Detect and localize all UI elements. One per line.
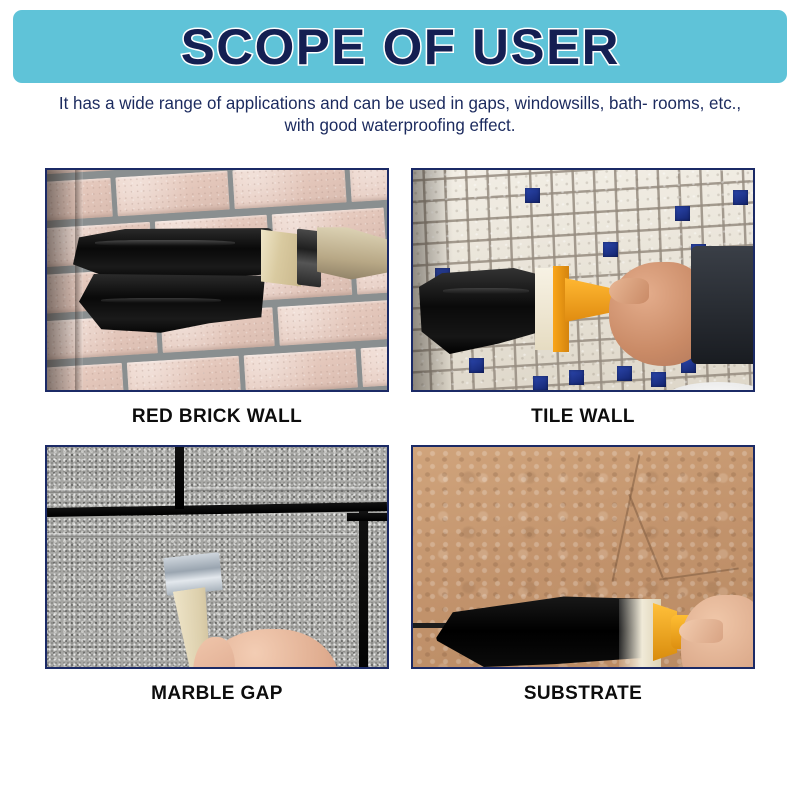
scene-tile (413, 170, 753, 390)
finger (679, 619, 723, 643)
accent-tile (533, 376, 548, 390)
gap-horizontal-bottom (347, 513, 387, 521)
gap-vertical-right (359, 511, 368, 667)
panel-substrate: SUBSTRATE (411, 445, 755, 705)
panel-tile-wall: TILE WALL (411, 168, 755, 428)
photo-red-brick-wall (45, 168, 389, 392)
sealant-highlight-1 (95, 240, 235, 246)
scene-brick (47, 170, 387, 390)
panel-marble-gap: MARBLE GAP (45, 445, 389, 705)
accent-tile (651, 372, 666, 387)
page-title: SCOPE OF USER (180, 22, 619, 72)
header-banner: SCOPE OF USER (13, 10, 787, 83)
accent-tile (603, 242, 618, 257)
accent-tile (733, 190, 748, 205)
accent-tile (675, 206, 690, 221)
caption-substrate: SUBSTRATE (411, 683, 755, 705)
sealant-stroke-upper (73, 228, 273, 280)
scene-substrate (413, 447, 753, 667)
photo-tile-wall (411, 168, 755, 392)
subtitle-line-1: It has a wide range of applications and … (59, 93, 648, 113)
panel-red-brick-wall: RED BRICK WALL (45, 168, 389, 428)
caption-tile-wall: TILE WALL (411, 406, 755, 428)
sealant-highlight-tile (443, 288, 529, 294)
paint-brush-bristles (261, 230, 301, 287)
photo-marble-gap (45, 445, 389, 669)
jacket-sleeve (691, 246, 753, 364)
photo-substrate (411, 445, 755, 669)
slab-groove-top (47, 489, 175, 493)
subtitle-description: It has a wide range of applications and … (56, 92, 745, 136)
accent-tile (525, 188, 540, 203)
slab-groove-top-right (187, 487, 387, 491)
accent-tile (569, 370, 584, 385)
thumb (609, 278, 649, 304)
application-panel-grid: RED BRICK WALL (45, 168, 755, 765)
wall-corner-edge (75, 170, 83, 390)
accent-tile (617, 366, 632, 381)
accent-tile (469, 358, 484, 373)
caption-marble-gap: MARBLE GAP (45, 683, 389, 705)
caption-red-brick-wall: RED BRICK WALL (45, 406, 389, 428)
sealant-highlight-2 (101, 298, 221, 303)
scene-marble (47, 447, 387, 667)
